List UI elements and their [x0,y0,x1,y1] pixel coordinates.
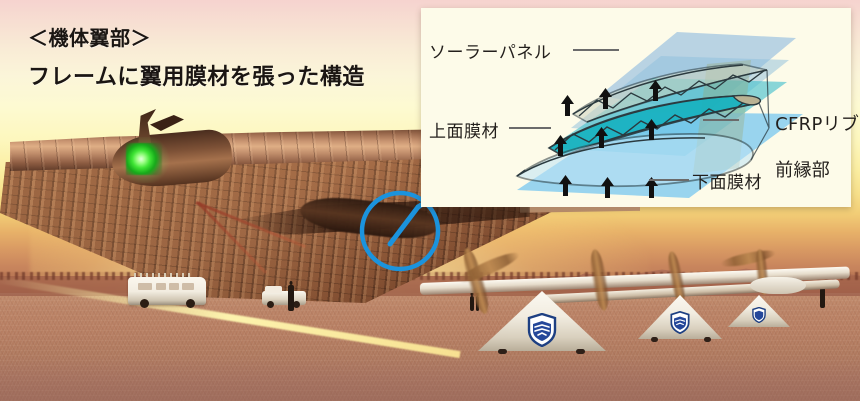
gear-wheel [704,337,711,342]
ground-crew-person [288,285,294,311]
label-solar-panel: ソーラーパネル [429,38,551,63]
headline-block: ＜機体翼部＞ フレームに翼用膜材を張った構造 [28,22,428,91]
wing-shield-logo [752,307,766,328]
label-upper-membrane: 上面膜材 [429,117,499,142]
landing-gear-pod [638,295,722,339]
gear-wheel [576,349,585,354]
truck-wheel [293,301,300,308]
support-van [128,277,206,305]
van-window [182,283,194,290]
pickup-truck [262,291,306,305]
van-window [138,283,152,290]
shield-icon [527,313,557,347]
wing-shield-logo [527,313,557,352]
label-lower-membrane: 下面膜材 [692,168,762,193]
van-window [156,283,166,290]
truck-wheel [267,301,274,308]
parked-aircraft-row [420,255,860,375]
truck-cab [265,286,282,293]
label-cfrp-rib-line2: 前縁部 [775,160,830,181]
headline-subtitle: ＜機体翼部＞ [28,22,428,51]
aft-pod [750,277,806,294]
shield-icon [670,311,690,334]
van-roof-rack [134,273,190,277]
gear-wheel [498,349,507,354]
screenshot-root: ＜機体翼部＞ フレームに翼用膜材を張った構造 [0,0,860,401]
label-cfrp-rib-line1: CFRPリブ [775,114,859,135]
headline-title: フレームに翼用膜材を張った構造 [28,59,428,91]
landing-gear-pod [728,295,790,327]
van-window [169,283,179,290]
shield-icon [752,307,766,323]
wing-structure-diagram-panel: ソーラーパネル 上面膜材 CFRPリブ 前縁部 下面膜材 [421,8,851,207]
wing-shield-logo [670,311,690,339]
van-wheel [186,299,195,308]
van-wheel [140,299,149,308]
arrow-down-icon [561,95,574,116]
green-navigation-light-icon [126,143,162,175]
gear-wheel [651,337,658,342]
